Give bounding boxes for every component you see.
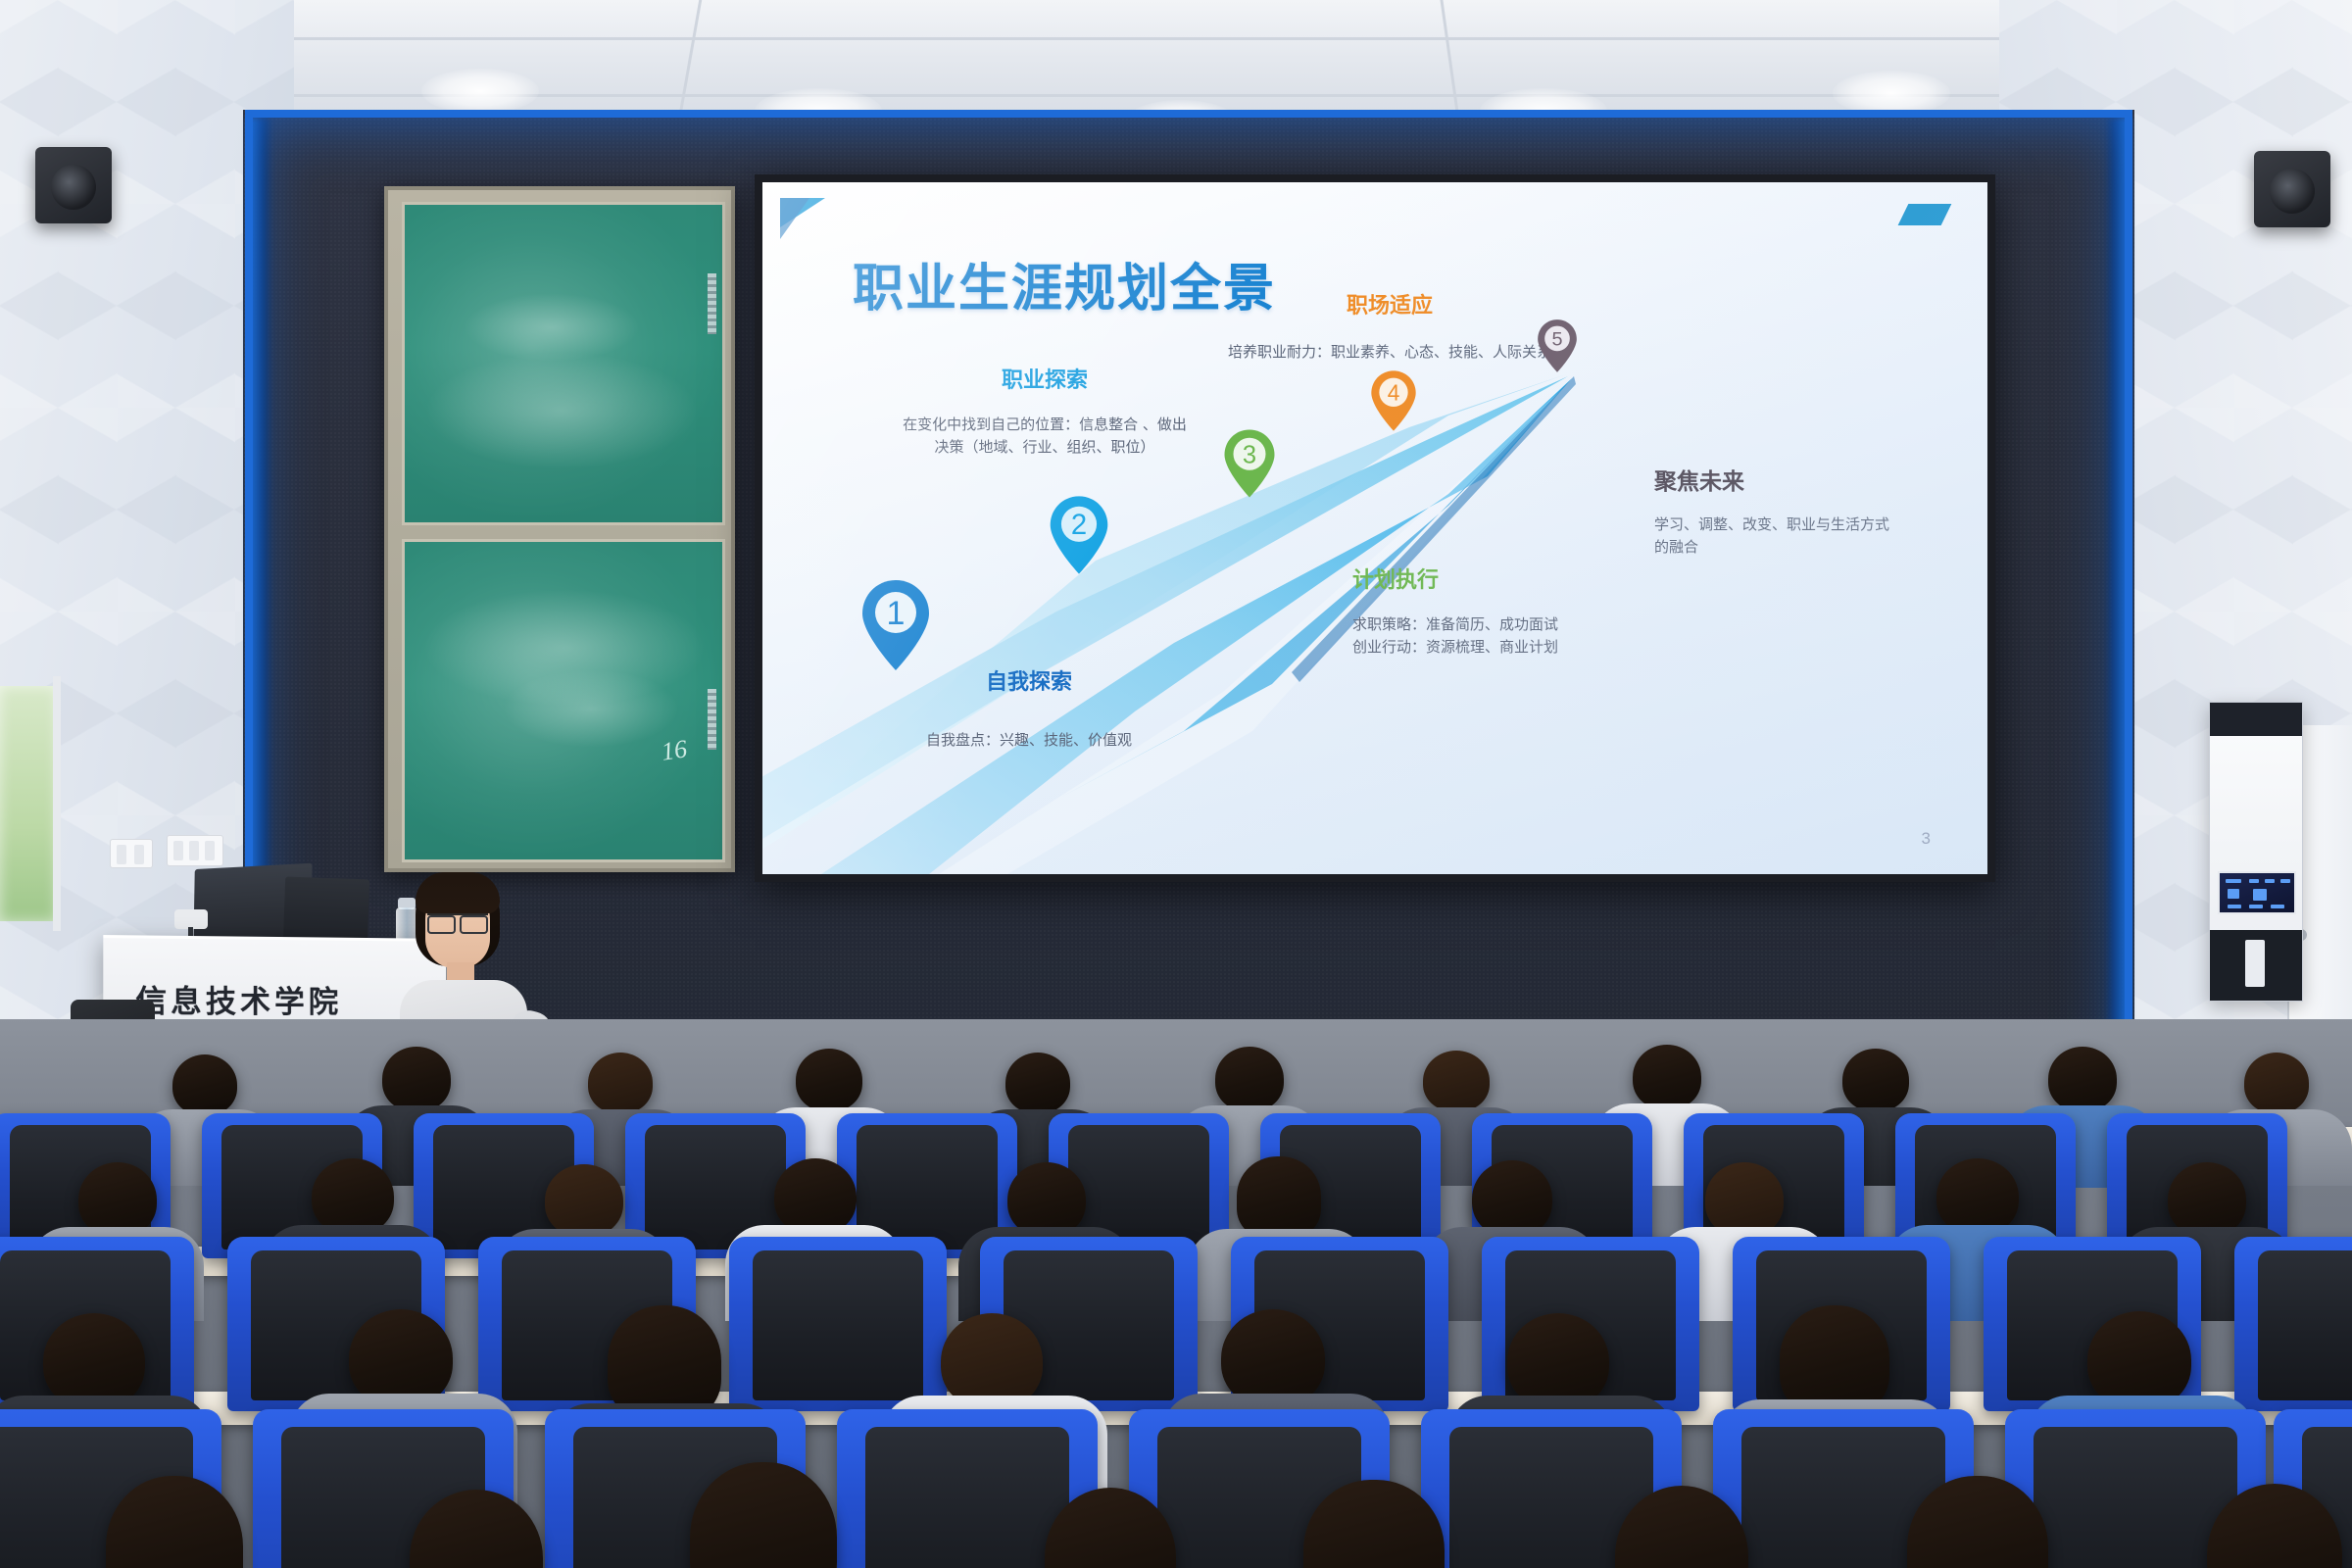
audience-head xyxy=(588,1053,653,1113)
audience-head xyxy=(1705,1162,1784,1237)
audience-head xyxy=(349,1309,453,1407)
stage-pin-1: 1 xyxy=(860,578,931,672)
audience-head xyxy=(2087,1311,2191,1409)
audience-head xyxy=(1936,1158,2019,1235)
blackboard: 16 xyxy=(384,186,735,872)
window-frame xyxy=(53,676,61,931)
audience-head xyxy=(1423,1051,1490,1111)
audience-head xyxy=(1237,1156,1321,1239)
stage-5-heading: 聚焦未来 xyxy=(1654,463,1978,496)
slide-page-number: 3 xyxy=(1922,829,1931,849)
wall-speaker-left xyxy=(35,147,112,223)
stage-label-1: 自我探索 自我盘点：兴趣、技能、价值观 xyxy=(813,664,1245,752)
audience-head xyxy=(2048,1047,2117,1111)
blackboard-note: 16 xyxy=(660,734,689,766)
blackboard-pane-bottom: 16 xyxy=(402,539,725,862)
stage-2-heading: 职业探索 xyxy=(770,363,1319,394)
stage-3-heading: 计划执行 xyxy=(1352,563,1686,594)
stage-led-right xyxy=(2105,118,2131,1127)
window xyxy=(0,686,57,921)
webcam-icon xyxy=(174,909,208,929)
stage-pin-3-number: 3 xyxy=(1243,441,1256,468)
ceiling-light xyxy=(421,69,539,114)
stage-3-subline-1: 求职策略：准备简历、成功面试 xyxy=(1352,613,1686,636)
audience-head xyxy=(796,1049,862,1111)
audience-head xyxy=(1215,1047,1284,1111)
stage-pin-5-number: 5 xyxy=(1551,328,1562,350)
stage-5-subline-1: 学习、调整、改变、职业与生活方式 xyxy=(1654,514,1978,536)
auditorium-seat[interactable] xyxy=(729,1237,947,1411)
stage-4-subline-1: 培养职业耐力：职业素养、心态、技能、人际关系 xyxy=(1184,341,1595,364)
stage-5-subline-2: 的融合 xyxy=(1654,536,1978,559)
stage-label-3: 计划执行 求职策略：准备简历、成功面试 创业行动：资源梳理、商业计划 xyxy=(1352,563,1686,658)
lectern-sign-text: 信息技术学院 xyxy=(135,976,342,1021)
audience-head xyxy=(1005,1053,1070,1113)
blackboard-pane-top xyxy=(402,202,725,525)
stage-1-subline-1: 自我盘点：兴趣、技能、价值观 xyxy=(813,729,1245,752)
stage-pin-2: 2 xyxy=(1049,494,1109,576)
auditorium-seat[interactable] xyxy=(2234,1237,2352,1411)
audience-head xyxy=(1472,1160,1552,1237)
audience-head xyxy=(2168,1162,2246,1237)
stage-pin-3: 3 xyxy=(1223,427,1276,500)
projection-screen-frame: 职业生涯规划全景 职场适应 培养职业耐力：职业素养、心态、技能、人际关系 职业探… xyxy=(755,174,1995,882)
av-control-panel[interactable] xyxy=(2209,702,2303,1002)
stage-pin-5: 5 xyxy=(1537,318,1578,374)
av-touch-screen[interactable] xyxy=(2218,871,2296,914)
stage-label-5: 聚焦未来 学习、调整、改变、职业与生活方式 的融合 xyxy=(1654,463,1978,558)
stage-pin-4-number: 4 xyxy=(1388,379,1400,405)
audience-head xyxy=(774,1158,857,1235)
audience-head xyxy=(312,1158,394,1235)
audience-head xyxy=(78,1162,157,1237)
stage-4-heading: 职场适应 xyxy=(1184,288,1595,319)
stage-label-4: 职场适应 培养职业耐力：职业素养、心态、技能、人际关系 xyxy=(1184,288,1595,364)
audience-head xyxy=(1842,1049,1909,1111)
audience-head xyxy=(545,1164,623,1237)
wall-speaker-right xyxy=(2254,151,2330,227)
light-switch[interactable] xyxy=(167,835,223,866)
audience-area xyxy=(0,1019,2352,1568)
presentation-slide: 职业生涯规划全景 职场适应 培养职业耐力：职业素养、心态、技能、人际关系 职业探… xyxy=(762,182,1987,874)
glasses-icon xyxy=(427,913,488,929)
audience-head xyxy=(382,1047,451,1111)
audience-head xyxy=(2244,1053,2309,1113)
audience-head xyxy=(1221,1309,1325,1407)
stage-3-subline-2: 创业行动：资源梳理、商业计划 xyxy=(1352,636,1686,659)
stage-pin-1-number: 1 xyxy=(887,595,906,632)
lecture-hall-photo: 16 xyxy=(0,0,2352,1568)
audience-head xyxy=(172,1054,237,1115)
corner-triangle-shadow-icon xyxy=(780,198,809,239)
stage-pin-4: 4 xyxy=(1370,368,1417,433)
audience-head xyxy=(1007,1162,1086,1237)
light-switch[interactable] xyxy=(110,839,153,868)
stage-pin-2-number: 2 xyxy=(1071,510,1087,541)
audience-head xyxy=(1633,1045,1701,1109)
